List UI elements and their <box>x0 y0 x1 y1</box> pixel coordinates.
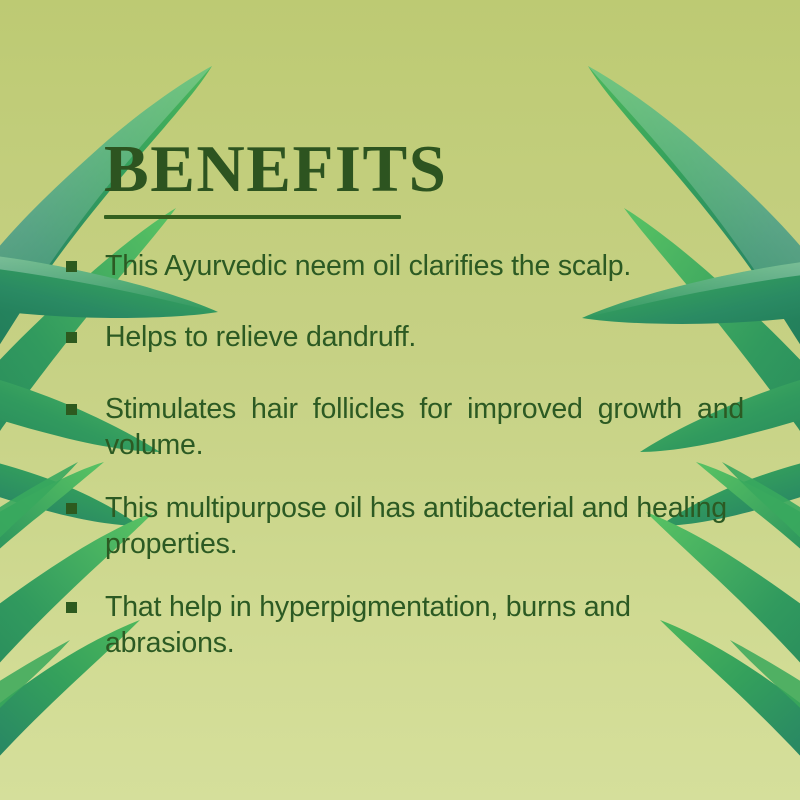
list-item: This multipurpose oil has antibacterial … <box>64 490 744 563</box>
benefit-text: That help in hyperpigmentation, burns an… <box>105 589 744 662</box>
bullet-square-icon <box>66 503 77 514</box>
bullet-square-icon <box>66 602 77 613</box>
benefit-text: Helps to relieve dandruff. <box>105 319 744 355</box>
list-item: Helps to relieve dandruff. <box>64 319 744 355</box>
benefits-poster: BENEFITS This Ayurvedic neem oil clarifi… <box>0 0 800 800</box>
list-item: This Ayurvedic neem oil clarifies the sc… <box>64 248 744 284</box>
benefit-text: Stimulates hair follicles for improved g… <box>105 391 744 464</box>
bullet-square-icon <box>66 261 77 272</box>
bullet-square-icon <box>66 332 77 343</box>
title-underline-rule <box>104 215 401 219</box>
bullet-square-icon <box>66 404 77 415</box>
page-title-block: BENEFITS <box>104 136 524 219</box>
list-item: Stimulates hair follicles for improved g… <box>64 391 744 464</box>
poster-content: BENEFITS This Ayurvedic neem oil clarifi… <box>0 0 800 800</box>
benefit-text: This Ayurvedic neem oil clarifies the sc… <box>105 248 744 284</box>
benefit-text: This multipurpose oil has antibacterial … <box>105 490 744 563</box>
list-item: That help in hyperpigmentation, burns an… <box>64 589 744 662</box>
page-title: BENEFITS <box>104 136 524 203</box>
benefits-list: This Ayurvedic neem oil clarifies the sc… <box>64 248 744 662</box>
